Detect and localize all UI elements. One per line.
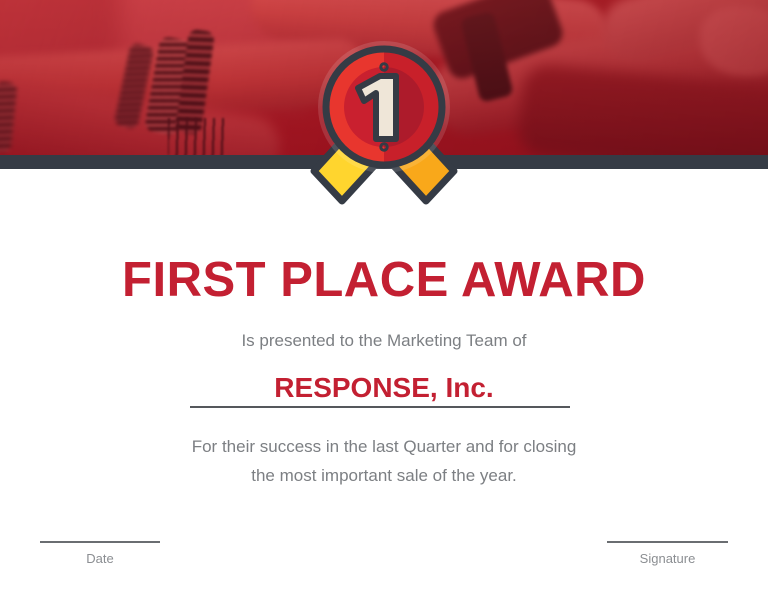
page-title: FIRST PLACE AWARD [0, 252, 768, 308]
award-description-line-2: the most important sale of the year. [0, 461, 768, 490]
date-label: Date [40, 551, 160, 566]
certificate-page: FIRST PLACE AWARD Is presented to the Ma… [0, 0, 768, 593]
signature-rule [607, 541, 728, 543]
recipient-name: RESPONSE, Inc. [0, 372, 768, 404]
date-rule [40, 541, 160, 543]
date-signature-line[interactable]: Date [40, 541, 160, 566]
signature-line[interactable]: Signature [607, 541, 728, 566]
award-description-line-1: For their success in the last Quarter an… [0, 432, 768, 461]
first-place-medal-icon [284, 31, 484, 231]
award-description: For their success in the last Quarter an… [0, 432, 768, 490]
signature-label: Signature [607, 551, 728, 566]
presented-to-line: Is presented to the Marketing Team of [0, 331, 768, 351]
recipient-underline [190, 406, 570, 408]
